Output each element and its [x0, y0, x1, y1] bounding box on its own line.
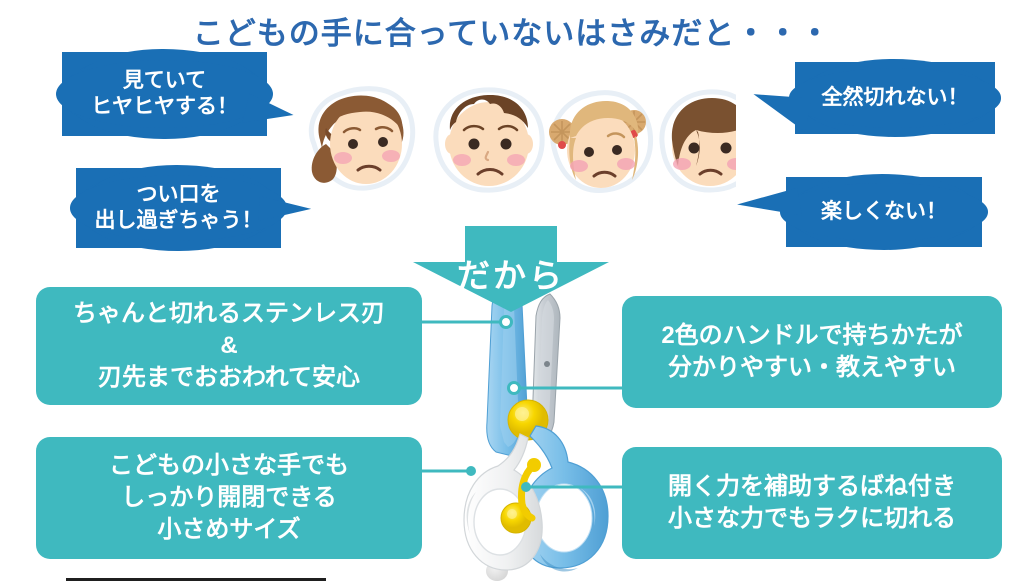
dakara-arrow: だから: [413, 226, 609, 312]
feature-text: こどもの小さな手でも しっかり開閉できる 小さめサイズ: [109, 450, 349, 546]
speech-bubble-nofun: 楽しくない！: [786, 177, 982, 247]
speech-bubble-mouth: つい口を 出し過ぎちゃう！: [76, 168, 281, 248]
page-title: こどもの手に合っていないはさみだと・・・: [0, 8, 1024, 53]
bubble-text: 見ていて ヒヤヒヤする！: [91, 68, 238, 119]
face-child-bob: [662, 92, 736, 190]
bubble-text: 楽しくない！: [821, 199, 947, 225]
feature-box-size: こどもの小さな手でも しっかり開閉できる 小さめサイズ: [36, 437, 422, 559]
feature-text: ちゃんと切れるステンレス刃 & 刃先までおおわれて安心: [73, 298, 385, 394]
feature-box-spring: 開く力を補助するばね付き 小さな力でもラクに切れる: [622, 447, 1002, 559]
scissors-illustration: [432, 276, 636, 576]
face-girl-buns: [549, 93, 651, 191]
scissors-handle-white: [464, 434, 542, 570]
speech-bubble-nocut: 全然切れない！: [795, 62, 995, 134]
bottom-rule: [66, 578, 326, 581]
feature-text: 2色のハンドルで持ちかたが 分かりやすい・教えやすい: [661, 320, 962, 384]
feature-box-blade: ちゃんと切れるステンレス刃 & 刃先までおおわれて安心: [36, 287, 422, 405]
bubble-tail: [242, 94, 296, 135]
bubble-text: 全然切れない！: [822, 85, 969, 111]
speech-bubble-scary: 見ていて ヒヤヒヤする！: [62, 52, 267, 136]
bubble-text: つい口を 出し過ぎちゃう！: [95, 182, 263, 233]
infographic-canvas: こどもの手に合っていないはさみだと・・・: [0, 0, 1024, 586]
children-faces-group: [296, 82, 736, 204]
feature-text: 開く力を補助するばね付き 小さな力でもラクに切れる: [668, 471, 956, 535]
feature-box-handle: 2色のハンドルで持ちかたが 分かりやすい・教えやすい: [622, 296, 1002, 408]
face-girl-ponytail: [311, 89, 412, 189]
face-boy-short: [436, 90, 542, 190]
arrow-label: だから: [413, 249, 609, 297]
